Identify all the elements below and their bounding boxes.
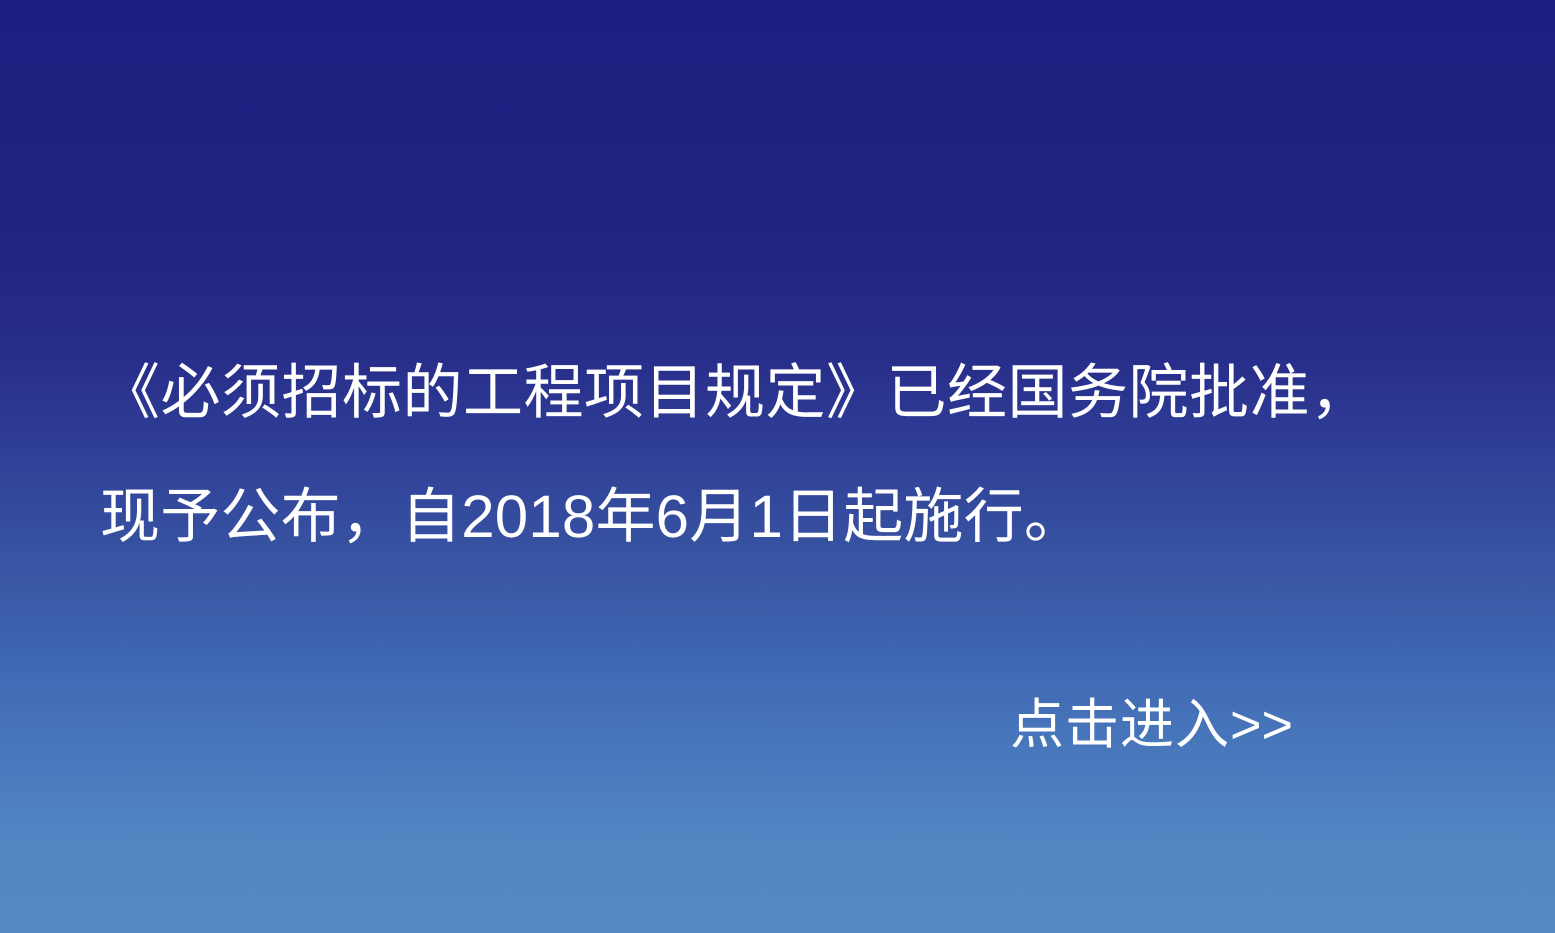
statement-line-1: 《必须招标的工程项目规定》已经国务院批准， bbox=[100, 331, 1480, 455]
enter-link[interactable]: 点击进入>> bbox=[1010, 692, 1350, 758]
statement-line-2: 现予公布，自2018年6月1日起施行。 bbox=[100, 455, 1480, 579]
enter-link-text: 点击进入 bbox=[1010, 695, 1230, 755]
enter-link-label[interactable]: 点击进入>> bbox=[1010, 692, 1293, 758]
announcement-banner: 《必须招标的工程项目规定》已经国务院批准， 现予公布，自2018年6月1日起施行… bbox=[0, 0, 1555, 933]
announcement-statement: 《必须招标的工程项目规定》已经国务院批准， 现予公布，自2018年6月1日起施行… bbox=[100, 331, 1480, 579]
double-chevron-right-icon: >> bbox=[1230, 695, 1293, 755]
